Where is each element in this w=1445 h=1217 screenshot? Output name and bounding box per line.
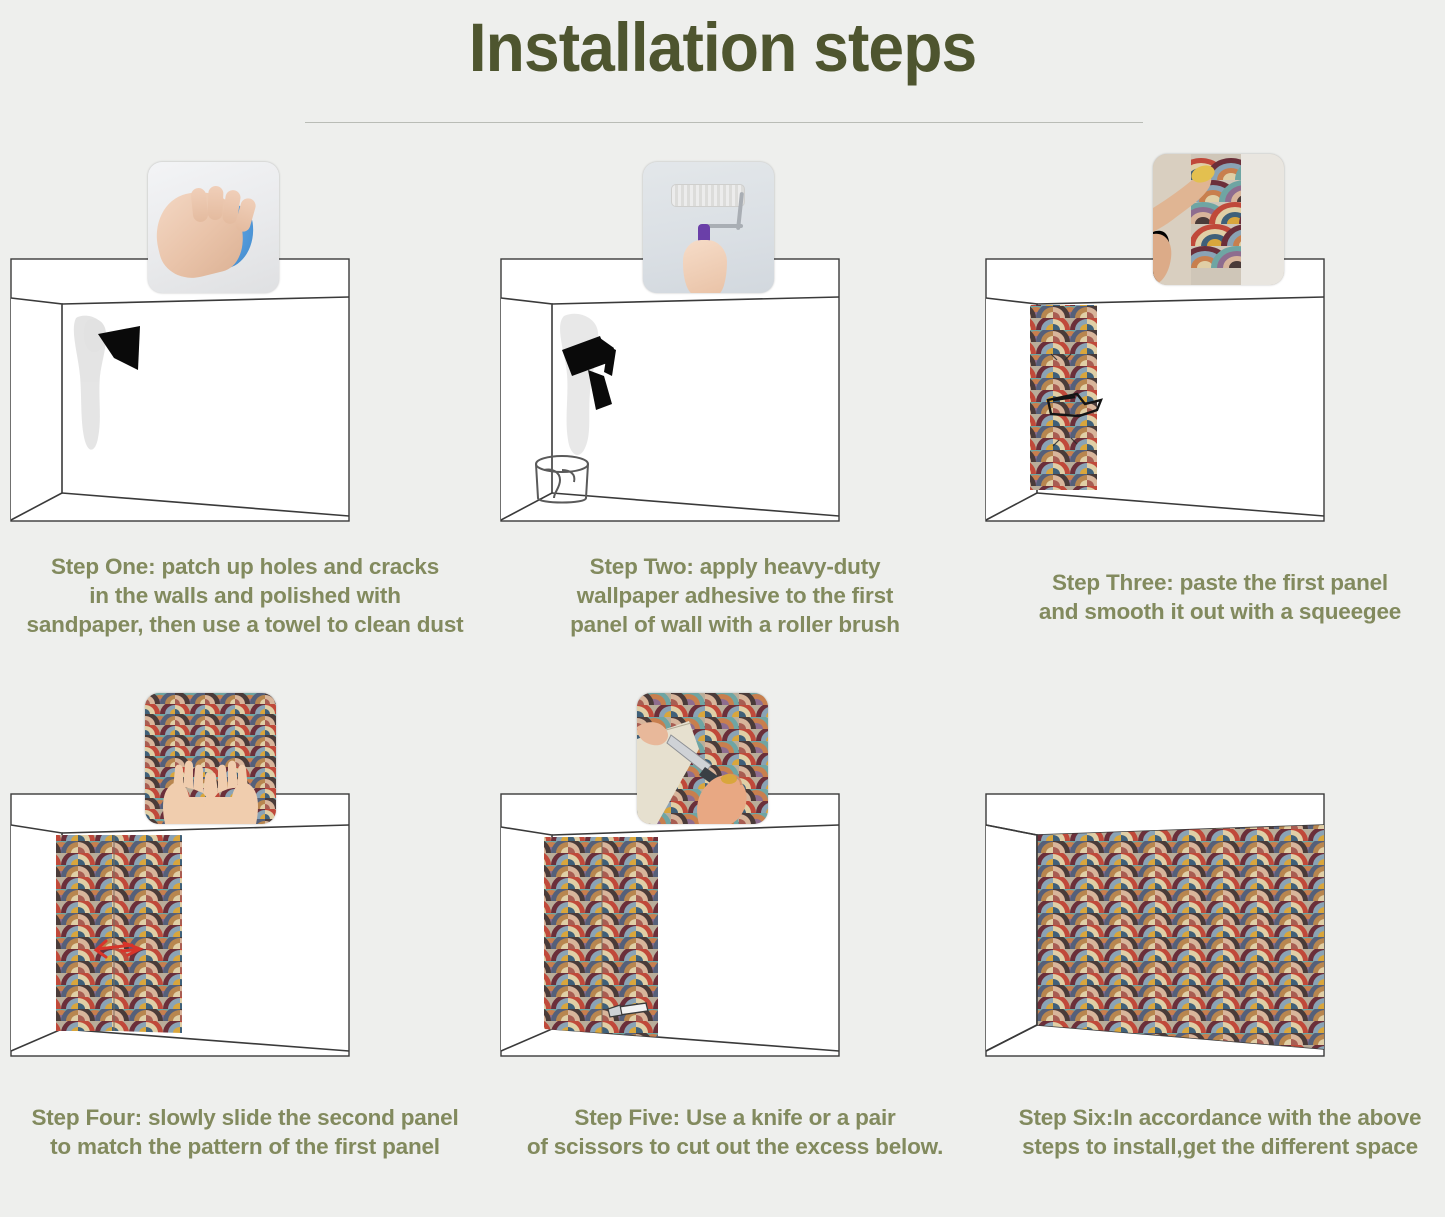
step-three-room-diagram <box>985 258 1325 530</box>
wallpaper-panel-one <box>56 835 114 1031</box>
step-four-caption: Step Four: slowly slide the second panel… <box>10 1103 480 1161</box>
step-one-room-diagram <box>10 258 350 530</box>
step-six-caption: Step Six:In accordance with the above st… <box>985 1103 1445 1161</box>
paint-roller-icon <box>671 184 745 207</box>
step-two-caption: Step Two: apply heavy-duty wallpaper adh… <box>500 552 970 639</box>
step-five-room-diagram <box>500 793 840 1065</box>
title-divider <box>305 122 1143 123</box>
step-four-room-diagram <box>10 793 350 1065</box>
wallpaper-full-wall <box>1037 825 1324 1049</box>
page-title: Installation steps <box>51 8 1395 87</box>
step-five-caption: Step Five: Use a knife or a pair of scis… <box>500 1103 970 1161</box>
step-one-caption: Step One: patch up holes and cracks in t… <box>10 552 480 639</box>
step-six-room-diagram <box>985 793 1325 1065</box>
step-three-photo <box>1153 154 1284 285</box>
step-two-photo <box>643 162 774 293</box>
step-four-photo <box>145 693 276 824</box>
installation-steps-infographic: Installation steps <box>0 0 1445 1217</box>
step-two-room-diagram <box>500 258 840 530</box>
hand-icon <box>683 240 727 293</box>
step-one-photo <box>148 162 279 293</box>
step-five-photo <box>637 693 768 824</box>
wallpaper-panel-two <box>114 835 182 1033</box>
wallpaper-panel-one <box>544 837 602 1033</box>
step-three-caption: Step Three: paste the first panel and sm… <box>985 568 1445 626</box>
